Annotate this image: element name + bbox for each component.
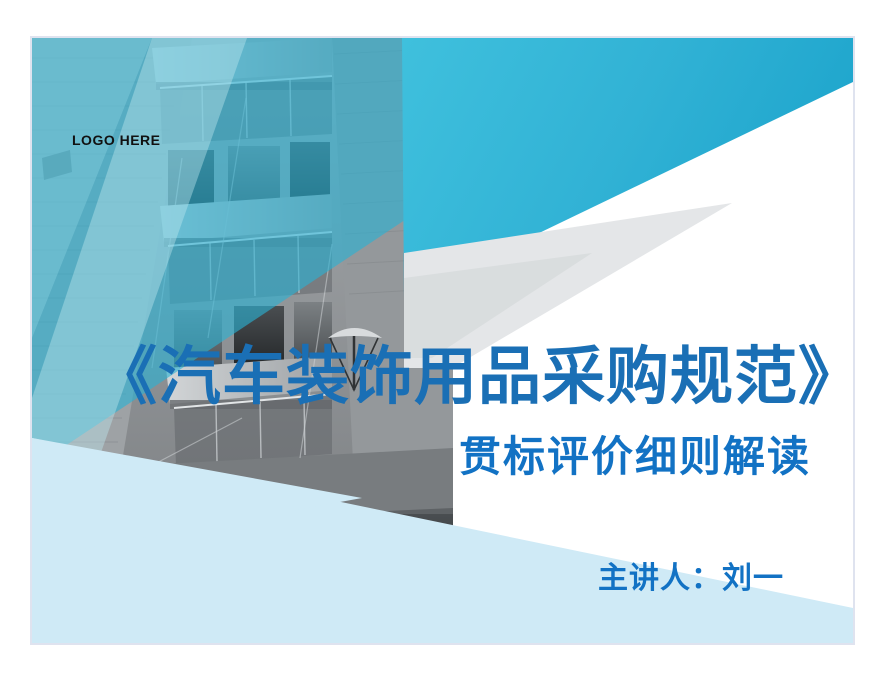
page-title: 《汽车装饰用品采购规范》 (94, 344, 836, 410)
slide-canvas: LOGO HERE 《汽车装饰用品采购规范》 贯标评价细则解读 主讲人：刘一 (0, 0, 883, 681)
presenter-name: 主讲人：刘一 (32, 553, 784, 597)
slide-frame: LOGO HERE 《汽车装饰用品采购规范》 贯标评价细则解读 主讲人：刘一 (30, 36, 855, 645)
subtitle: 贯标评价细则解读 (32, 423, 811, 484)
logo-placeholder-text: LOGO HERE (72, 132, 161, 148)
slide-content-area: LOGO HERE 《汽车装饰用品采购规范》 贯标评价细则解读 主讲人：刘一 (32, 38, 853, 643)
